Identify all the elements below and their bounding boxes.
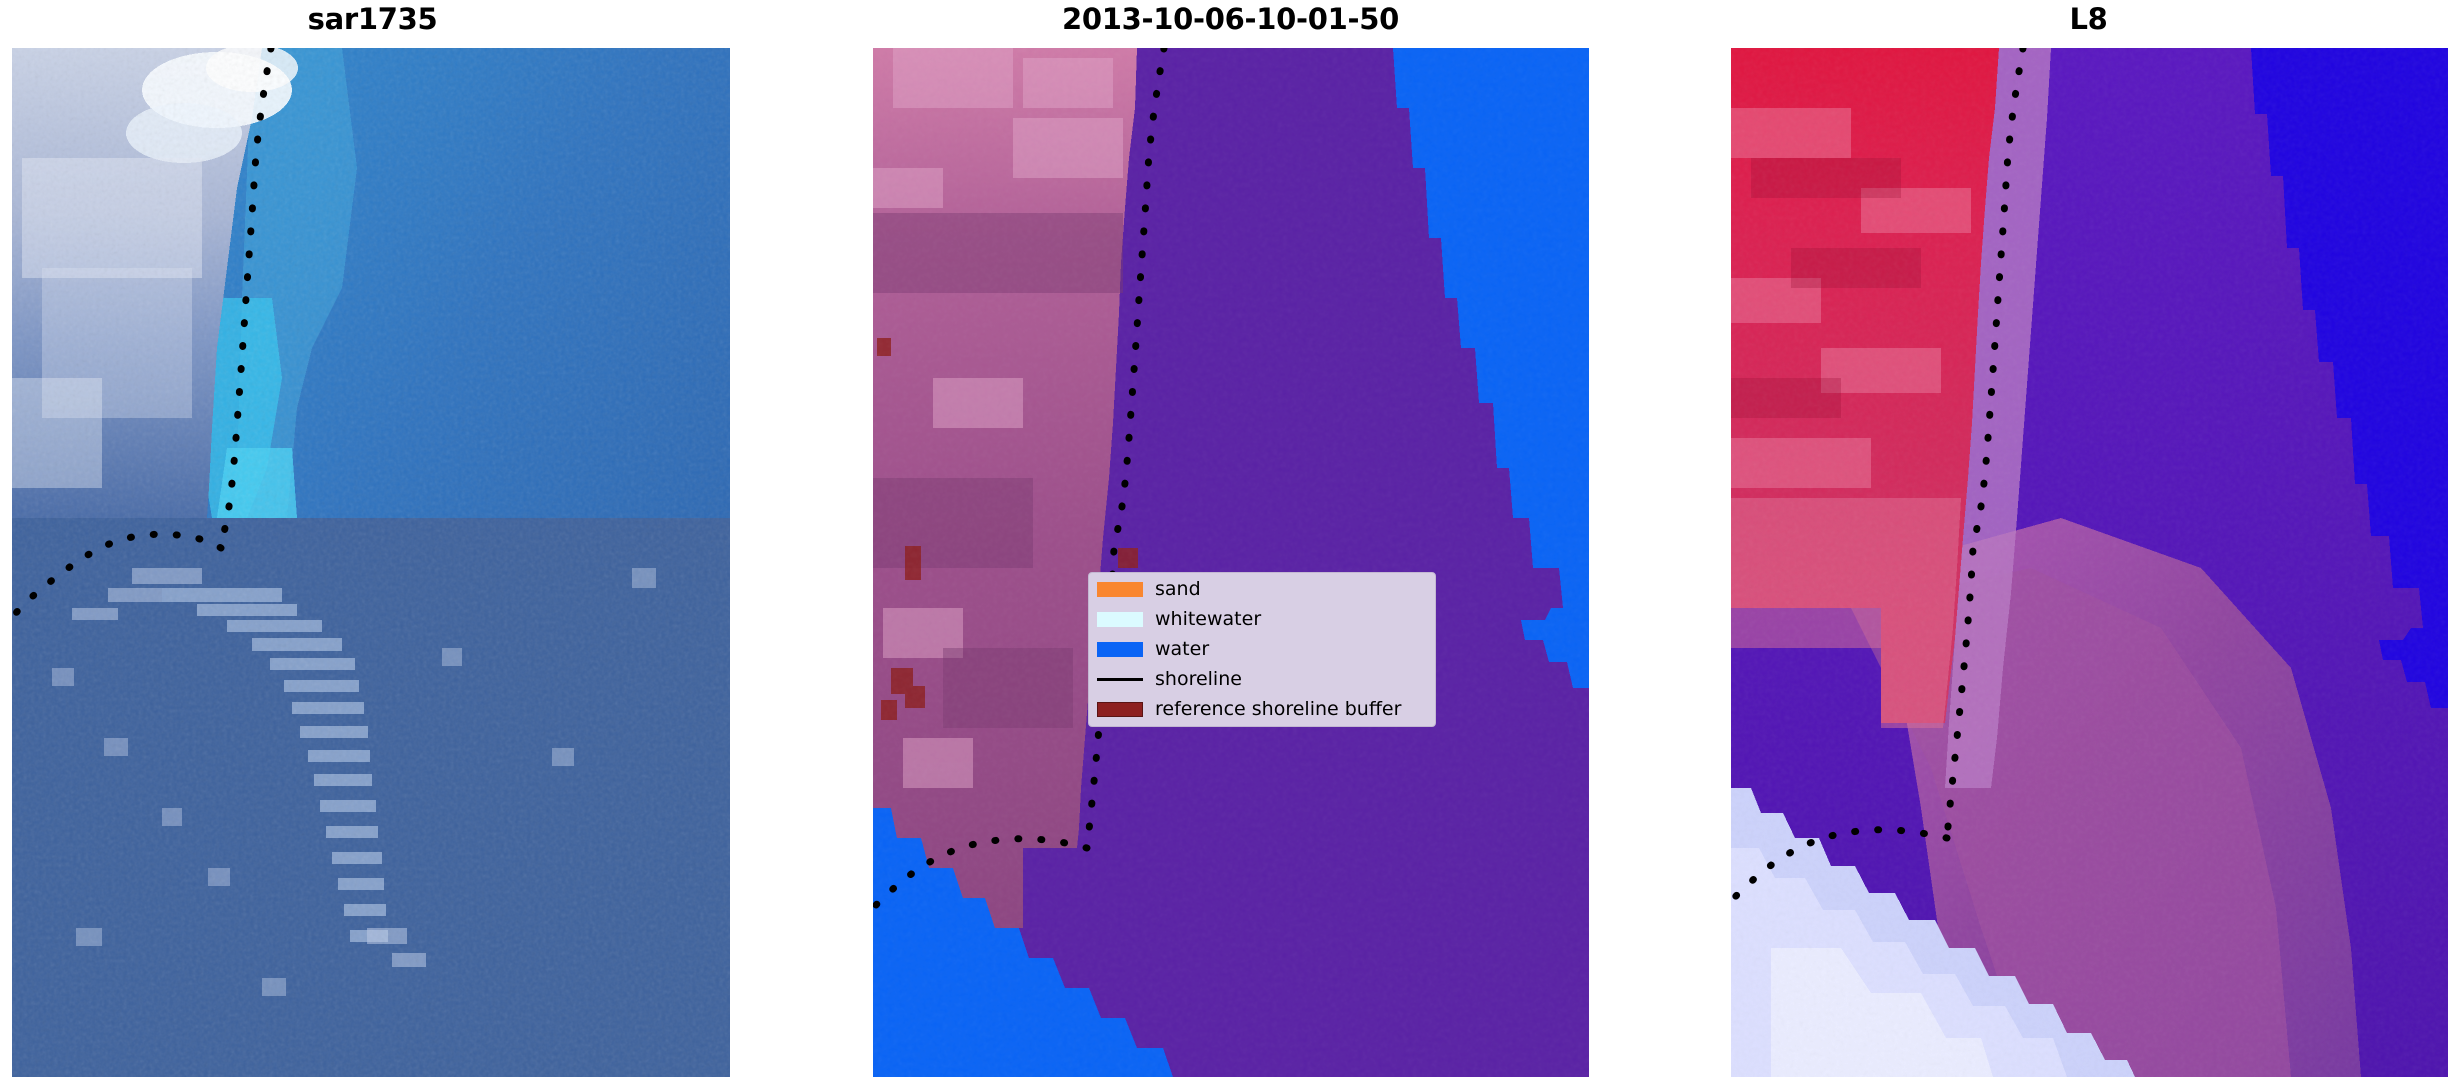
sar-image [12,48,730,1077]
legend-label-water: water [1155,640,1209,659]
shoreline-line [1097,678,1143,681]
classified-image [873,48,1589,1077]
sand-swatch-wrap [1097,580,1143,599]
legend-item-shoreline: shoreline [1097,670,1426,689]
shoreline-line-wrap [1097,670,1143,689]
panel-title-sar: sar1735 [0,2,745,36]
panel-title-classified: 2013-10-06-10-01-50 [858,2,1603,36]
legend-label-whitewater: whitewater [1155,610,1261,629]
buffer-swatch-wrap [1097,700,1143,719]
legend-item-water: water [1097,640,1426,659]
axes-classified[interactable]: sand whitewater water [873,48,1589,1077]
axes-sar[interactable] [12,48,730,1077]
figure-canvas: sar1735 [0,0,2460,1091]
axes-l8[interactable] [1731,48,2448,1077]
water-swatch [1097,642,1143,657]
legend-item-whitewater: whitewater [1097,610,1426,629]
panel-classified: 2013-10-06-10-01-50 [858,0,1603,1091]
water-swatch-wrap [1097,640,1143,659]
panel-sar: sar1735 [0,0,745,1091]
legend-item-sand: sand [1097,580,1426,599]
legend-label-reference-shoreline-buffer: reference shoreline buffer [1155,700,1401,719]
legend-label-shoreline: shoreline [1155,670,1242,689]
legend-label-sand: sand [1155,580,1201,599]
panel-title-l8: L8 [1716,2,2460,36]
legend-item-reference-shoreline-buffer: reference shoreline buffer [1097,700,1426,719]
whitewater-swatch [1097,612,1143,627]
l8-image [1731,48,2448,1077]
sand-swatch [1097,582,1143,597]
panel-l8: L8 [1716,0,2460,1091]
legend: sand whitewater water [1088,572,1436,727]
whitewater-swatch-wrap [1097,610,1143,629]
reference-shoreline-buffer-swatch [1097,702,1143,717]
